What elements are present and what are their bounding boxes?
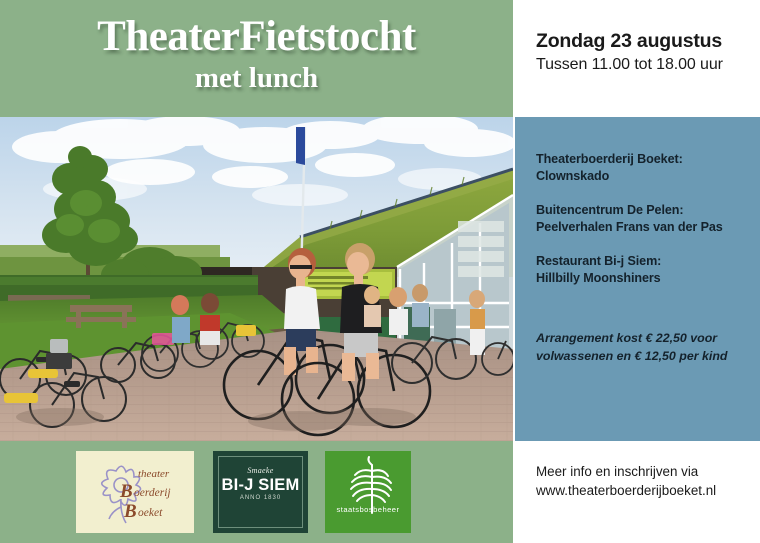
logo-bij-siem-script: Smaeke: [213, 466, 308, 475]
logo-staatsbosbeheer: [325, 451, 411, 533]
footer-contact: Meer info en inschrijven via www.theater…: [536, 462, 716, 500]
program-venue: Theaterboerderij Boeket:: [536, 151, 683, 168]
logo-staatsbosbeheer-label: staatsbosbeheer: [325, 505, 411, 514]
svg-text:B: B: [119, 481, 133, 502]
program-panel: Theaterboerderij Boeket: Clownskado Buit…: [515, 117, 760, 441]
program-act: Hillbilly Moonshiners: [536, 270, 661, 287]
program-venue: Buitencentrum De Pelen:: [536, 202, 723, 219]
footer-website[interactable]: www.theaterboerderijboeket.nl: [536, 481, 716, 500]
program-item-1: Theaterboerderij Boeket: Clownskado: [536, 151, 683, 185]
program-act: Peelverhalen Frans van der Pas: [536, 219, 723, 236]
program-venue: Restaurant Bi-j Siem:: [536, 253, 661, 270]
program-act: Clownskado: [536, 168, 683, 185]
poster-subtitle: met lunch: [0, 62, 513, 94]
event-photo: [0, 117, 513, 441]
program-item-2: Buitencentrum De Pelen: Peelverhalen Fra…: [536, 202, 723, 236]
poster-root: TheaterFietstocht met lunch Zondag 23 au…: [0, 0, 760, 543]
poster-title: TheaterFietstocht: [0, 14, 513, 60]
svg-text:B: B: [123, 501, 137, 522]
logo-bij-siem-name: BI-J SIEM: [213, 476, 308, 495]
logo-theaterboerderij-boeket: theater B oerderij B oeket: [76, 451, 194, 533]
event-date: Zondag 23 augustus: [536, 30, 722, 53]
svg-text:oeket: oeket: [138, 507, 163, 519]
price-line-2: volwassenen en € 12,50 per kind: [536, 347, 748, 365]
footer-line-1: Meer info en inschrijven via: [536, 462, 716, 481]
svg-text:theater: theater: [138, 468, 170, 480]
price-info: Arrangement kost € 22,50 voor volwassene…: [536, 329, 748, 365]
event-time: Tussen 11.00 tot 18.00 uur: [536, 56, 723, 74]
logo-bij-siem-anno: ANNO 1830: [213, 495, 308, 501]
program-item-3: Restaurant Bi-j Siem: Hillbilly Moonshin…: [536, 253, 661, 287]
svg-text:oerderij: oerderij: [134, 487, 171, 499]
price-line-1: Arrangement kost € 22,50 voor: [536, 329, 748, 347]
